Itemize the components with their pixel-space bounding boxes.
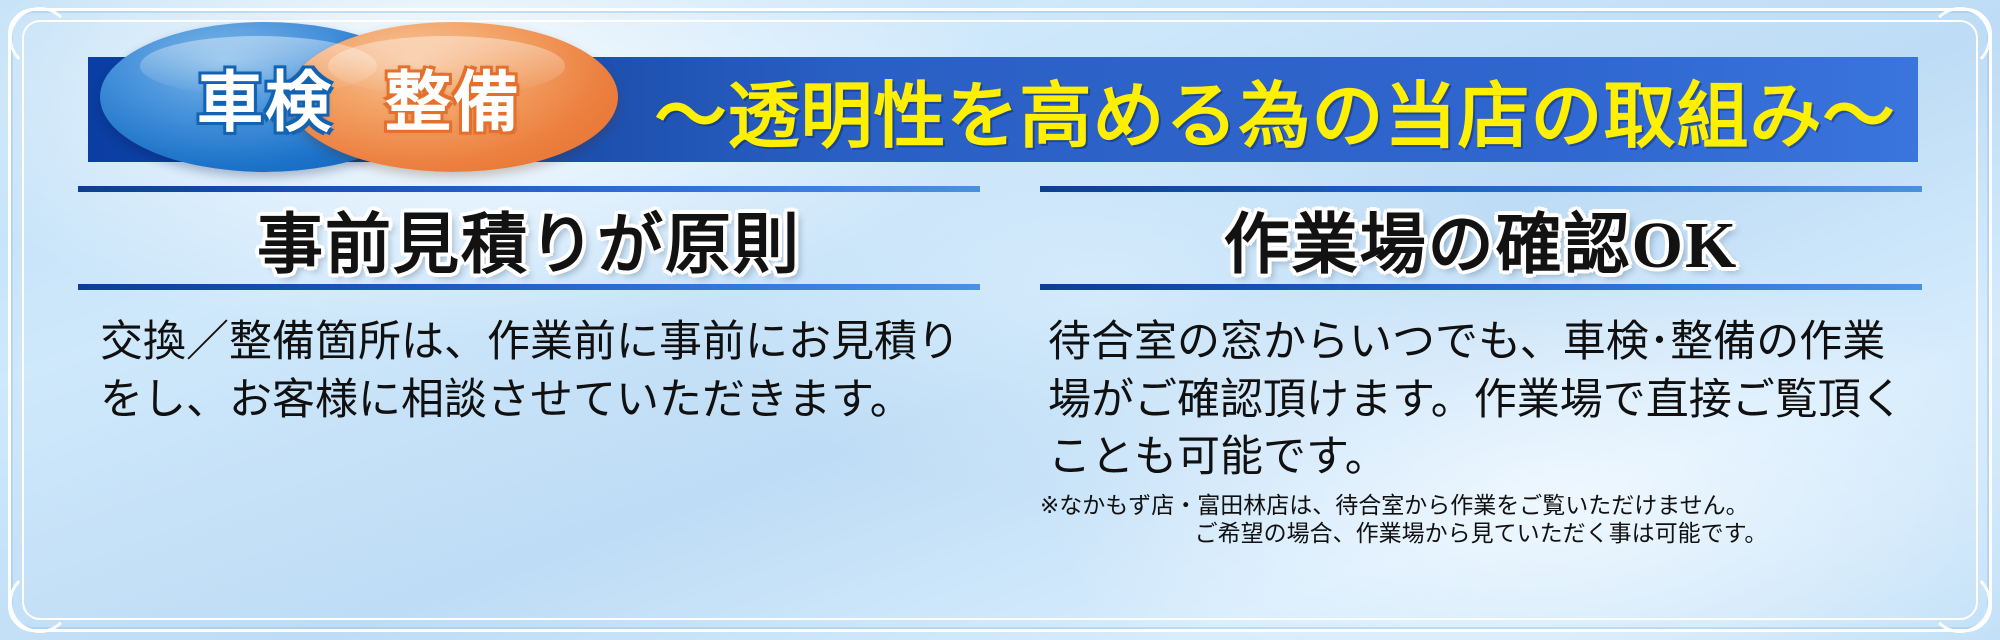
column-notes-workshop: ※なかもず店・富田林店は、待合室から作業をご覧いただけません。 ご希望の場合、作… [1040,491,1922,547]
column-estimate: 事前見積りが原則 交換／整備箇所は、作業前に事前にお見積りをし、お客様に相談させ… [60,186,1000,606]
content-columns: 事前見積りが原則 交換／整備箇所は、作業前に事前にお見積りをし、お客様に相談させ… [60,186,1940,606]
corner-ornament-top-right [1929,7,1991,69]
column-workshop: 作業場の確認OK 待合室の窓からいつでも、車検･整備の作業場がご確認頂けます。作… [1000,186,1940,606]
column-body-estimate: 交換／整備箇所は、作業前に事前にお見積りをし、お客様に相談させていただきます。 [78,314,980,429]
column-heading-workshop: 作業場の確認OK [1040,196,1922,282]
poster-root: 車検 整備 〜透明性を高める為の当店の取組み〜 事前見積りが原則 交換／整備箇所… [0,0,2000,640]
badge-seibi: 整備 [288,22,618,172]
column-body-workshop: 待合室の窓からいつでも、車検･整備の作業場がご確認頂けます。作業場で直接ご覧頂く… [1040,314,1922,487]
corner-ornament-top-left [9,7,71,69]
note-line-1: ※なかもず店・富田林店は、待合室から作業をご覧いただけません。 [1040,491,1922,519]
note-line-2: ご希望の場合、作業場から見ていただく事は可能です。 [1040,519,1922,547]
badge-seibi-label: 整備 [385,49,521,145]
badge-shaken-label: 車検 [197,49,333,145]
banner-title: 〜透明性を高める為の当店の取組み〜 [640,57,1910,162]
column-heading-estimate: 事前見積りが原則 [78,196,980,282]
